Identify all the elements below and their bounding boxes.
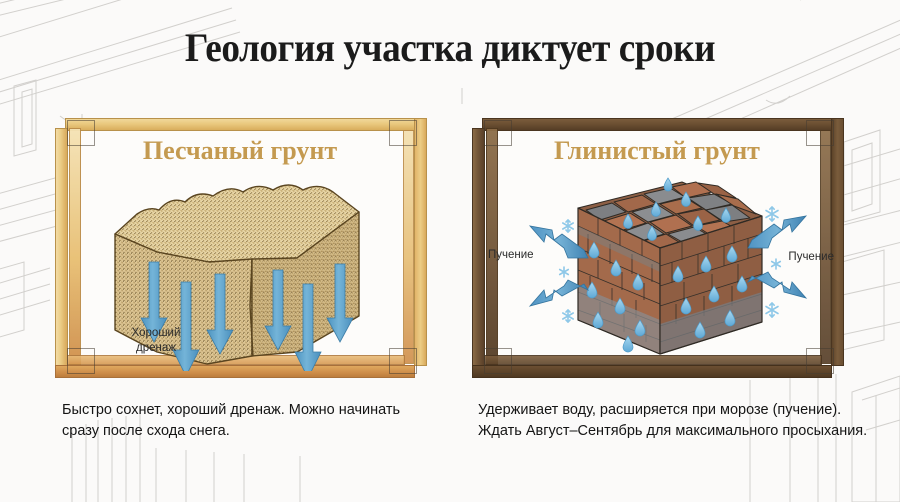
frame-beam-top [482, 118, 844, 131]
caption-sandy-soil: Быстро сохнет, хороший дренаж. Можно нач… [62, 400, 432, 441]
caption-clay-soil: Удерживает воду, расширяется при морозе … [478, 400, 868, 441]
panel-heading-clay: Глинистый грунт [462, 136, 852, 166]
frame-joint-bottom-right [389, 348, 417, 374]
panel-heading-sandy: Песчаный грунт [45, 136, 435, 166]
drainage-label: Хороший дренаж [113, 326, 199, 355]
frame-beam-top [65, 118, 427, 131]
panel-sandy-soil: Песчаный грунт [45, 108, 435, 386]
frame-joint-bottom-left [67, 348, 95, 374]
slide-title: Геология участка диктует сроки [32, 24, 869, 71]
clay-soil-block-illustration [500, 164, 820, 372]
heave-label-left: Пучение [488, 248, 554, 263]
heave-label-right: Пучение [766, 250, 834, 265]
panel-clay-soil: Глинистый грунт [462, 108, 852, 386]
slide-canvas: Геология участка диктует сроки Песчаный … [0, 0, 900, 502]
